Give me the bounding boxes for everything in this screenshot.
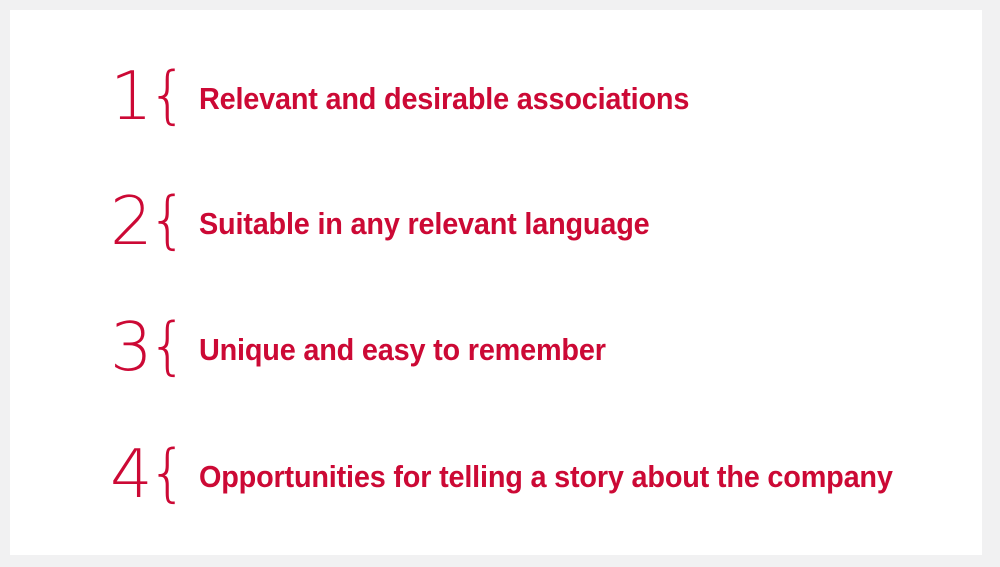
- list-item: 4 { Opportunities for telling a story ab…: [110, 436, 945, 516]
- slide-canvas: 1 { Relevant and desirable associations …: [10, 10, 982, 555]
- item-number: 1: [110, 63, 152, 130]
- list-item: 2 { Suitable in any relevant language: [110, 183, 684, 263]
- item-label: Relevant and desirable associations: [199, 83, 689, 114]
- item-number: 4: [110, 441, 152, 508]
- item-number: 2: [110, 188, 152, 255]
- curly-brace-icon: {: [148, 64, 187, 126]
- item-label: Suitable in any relevant language: [199, 208, 649, 239]
- item-label: Unique and easy to remember: [199, 334, 606, 365]
- numbered-criteria-list: 1 { Relevant and desirable associations …: [10, 10, 982, 555]
- curly-brace-icon: {: [148, 442, 187, 504]
- list-item: 3 { Unique and easy to remember: [110, 309, 637, 389]
- curly-brace-icon: {: [148, 315, 187, 377]
- item-number: 3: [110, 314, 152, 381]
- item-label: Opportunities for telling a story about …: [199, 461, 893, 492]
- list-item: 1 { Relevant and desirable associations: [110, 58, 727, 138]
- curly-brace-icon: {: [148, 189, 187, 251]
